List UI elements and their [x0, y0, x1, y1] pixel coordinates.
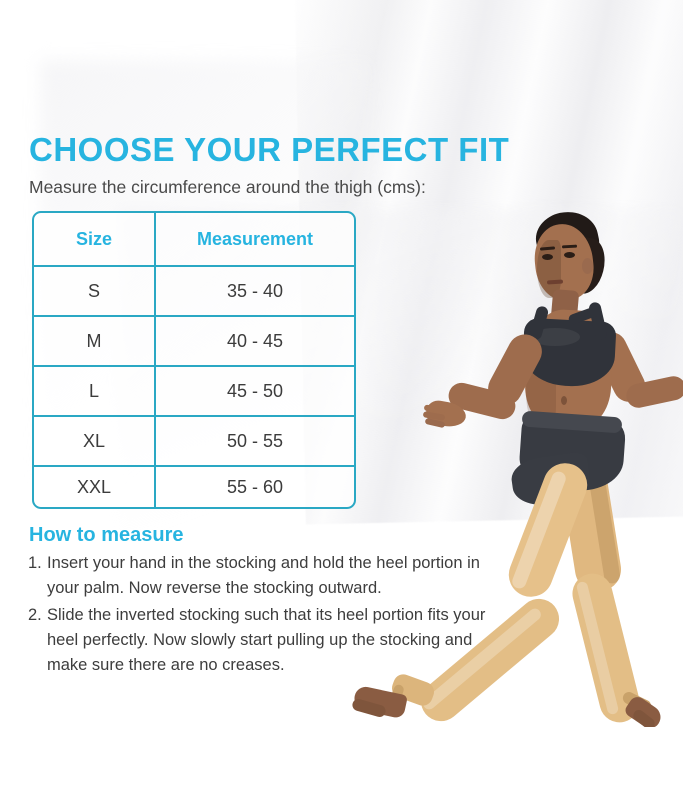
cell-size: XXL [34, 467, 156, 507]
table-row: S 35 - 40 [34, 267, 354, 317]
list-item: 1. Insert your hand in the stocking and … [28, 551, 498, 601]
cell-size: L [34, 367, 156, 417]
table-row: XXL 55 - 60 [34, 467, 354, 507]
size-chart-head: Size Measurement [34, 213, 354, 267]
cell-measurement: 50 - 55 [156, 417, 354, 467]
how-to-measure-heading: How to measure [29, 525, 183, 545]
table-row: M 40 - 45 [34, 317, 354, 367]
table-row: L 45 - 50 [34, 367, 354, 417]
step-number: 1. [28, 551, 47, 576]
page-subtitle: Measure the circumference around the thi… [29, 179, 426, 197]
table-row: XL 50 - 55 [34, 417, 354, 467]
page-title: CHOOSE YOUR PERFECT FIT [29, 133, 509, 166]
list-item: 2. Slide the inverted stocking such that… [28, 603, 498, 678]
cell-measurement: 55 - 60 [156, 467, 354, 507]
cell-size: XL [34, 417, 156, 467]
how-to-measure-steps: 1. Insert your hand in the stocking and … [28, 551, 498, 680]
step-text: Slide the inverted stocking such that it… [47, 606, 485, 674]
cell-measurement: 40 - 45 [156, 317, 354, 367]
size-chart-table: Size Measurement S 35 - 40 M 40 - 45 L 4… [32, 211, 356, 509]
cell-measurement: 45 - 50 [156, 367, 354, 417]
column-header-measurement: Measurement [156, 213, 354, 267]
step-number: 2. [28, 603, 47, 628]
cell-measurement: 35 - 40 [156, 267, 354, 317]
size-chart-body: S 35 - 40 M 40 - 45 L 45 - 50 XL 50 - 55… [34, 267, 354, 507]
cell-size: M [34, 317, 156, 367]
info-overlay: CHOOSE YOUR PERFECT FIT Measure the circ… [0, 0, 683, 800]
column-header-size: Size [34, 213, 156, 267]
step-text: Insert your hand in the stocking and hol… [47, 554, 480, 597]
cell-size: S [34, 267, 156, 317]
table-header-row: Size Measurement [34, 213, 354, 267]
